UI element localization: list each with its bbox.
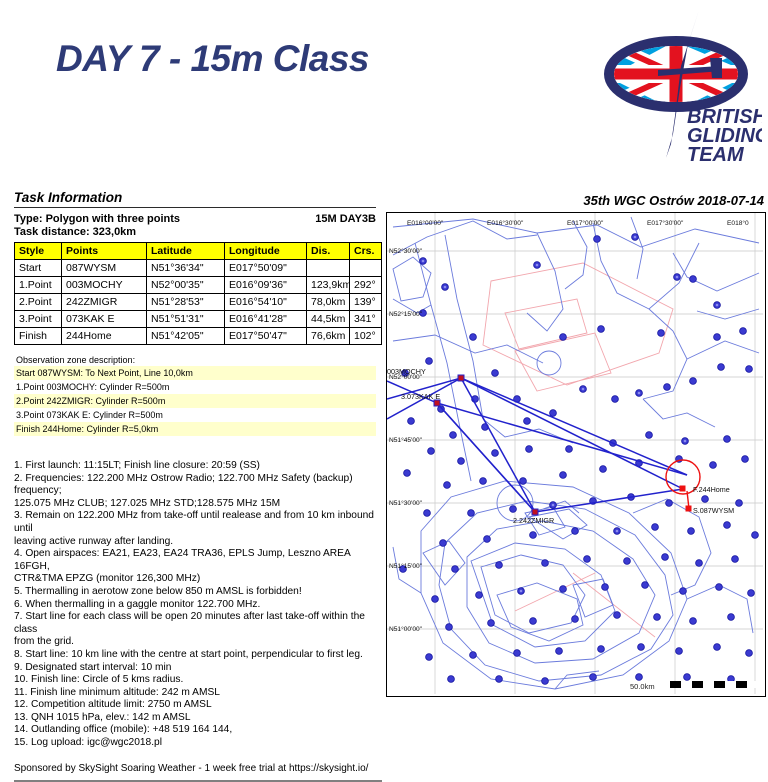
lat-label-3: N51°45'00"	[389, 436, 423, 444]
note-line: 6. When thermalling in a gaggle monitor …	[14, 599, 382, 612]
lon-label-2: E017°00'00"	[567, 219, 604, 227]
note-line: from the grid.	[14, 636, 382, 649]
cell-points: 087WYSM	[62, 260, 147, 277]
table-row: 1.Point 003MOCHY N52°00'35" E016°09'36" …	[15, 277, 382, 294]
cell-points: 242ZMIGR	[62, 294, 147, 311]
cell-points: 244Home	[62, 328, 147, 345]
turnpoint-table: Style Points Latitude Longitude Dis. Crs…	[14, 242, 382, 345]
cell-points: 073KAK E	[62, 311, 147, 328]
note-line: 4. Open airspaces: EA21, EA23, EA24 TRA3…	[14, 548, 382, 573]
table-row: 3.Point 073KAK E N51°51'31" E016°41'28" …	[15, 311, 382, 328]
logo-line-3: TEAM	[687, 144, 745, 166]
cell-style: 2.Point	[15, 294, 62, 311]
lat-label-0: N52°30'00"	[389, 247, 423, 255]
task-information-panel: Task Information Type: Polygon with thre…	[14, 190, 376, 782]
note-line: 10. Finish line: Circle of 5 kms radius.	[14, 674, 382, 687]
observation-zone-title: Observation zone description:	[14, 355, 376, 366]
note-line: 9. Designated start interval: 10 min	[14, 662, 382, 675]
task-notes-list: 1. First launch: 11:15LT; Finish line cl…	[14, 460, 382, 750]
note-line: CTR&TMA EPZG (monitor 126,300 MHz)	[14, 573, 382, 586]
lon-label-4: E018°0	[727, 219, 749, 227]
task-type-line: Type: Polygon with three points 15M DAY3…	[14, 213, 376, 225]
map-label-mochy: 003MOCHY	[387, 367, 426, 376]
sponsor-line: Sponsored by SkySight Soaring Weather - …	[14, 763, 376, 774]
cell-longitude: E017°50'09"	[225, 260, 307, 277]
note-line: leaving active runway after landing.	[14, 536, 382, 549]
col-distance: Dis.	[307, 243, 350, 260]
note-line: 1. First launch: 11:15LT; Finish line cl…	[14, 460, 382, 473]
page-title: DAY 7 - 15m Class	[56, 38, 369, 80]
observation-zone-block: Observation zone description: Start 087W…	[14, 355, 376, 436]
cell-latitude: N52°00'35"	[147, 277, 225, 294]
col-longitude: Longitude	[225, 243, 307, 260]
cell-distance: 76,6km	[307, 328, 350, 345]
task-day-id: 15M DAY3B	[315, 213, 376, 225]
cell-course: 341°	[350, 311, 382, 328]
lat-label-5: N51°15'00"	[389, 562, 423, 570]
task-map[interactable]: E016°00'00" E016°30'00" E017°00'00" E017…	[386, 212, 766, 697]
cell-longitude: E016°09'36"	[225, 277, 307, 294]
page-header: DAY 7 - 15m Class	[0, 0, 768, 186]
scale-label: 50.0km	[630, 682, 655, 691]
cell-style: 3.Point	[15, 311, 62, 328]
note-line: 11. Finish line minimum altitude: 242 m …	[14, 687, 382, 700]
cell-distance: 44,5km	[307, 311, 350, 328]
cell-style: 1.Point	[15, 277, 62, 294]
task-type-text: Type: Polygon with three points	[14, 213, 180, 225]
observation-zone-line: 3.Point 073KAK E: Cylinder R=500m	[14, 408, 376, 422]
latitude-tick-labels: N52°30'00" N52°15'00" N52°00'00" N51°45'…	[389, 247, 423, 633]
cell-course	[350, 260, 382, 277]
observation-zone-line: 1.Point 003MOCHY: Cylinder R=500m	[14, 380, 376, 394]
note-line: 12. Competition altitude limit: 2750 m A…	[14, 699, 382, 712]
map-title: 35th WGC Ostrów 2018-07-14	[380, 193, 764, 208]
observation-zone-line: Start 087WYSM: To Next Point, Line 10,0k…	[14, 366, 376, 380]
lat-label-4: N51°30'00"	[389, 499, 423, 507]
col-points: Points	[62, 243, 147, 260]
airspace-pink	[483, 263, 673, 637]
scale-bar	[670, 681, 758, 688]
col-style: Style	[15, 243, 62, 260]
observation-zone-line: 2.Point 242ZMIGR: Cylinder R=500m	[14, 394, 376, 408]
task-information-heading: Task Information	[14, 190, 376, 208]
lat-label-1: N52°15'00"	[389, 310, 423, 318]
cell-latitude: N51°36'34"	[147, 260, 225, 277]
cell-distance: 123,9km	[307, 277, 350, 294]
table-row: 2.Point 242ZMIGR N51°28'53" E016°54'10" …	[15, 294, 382, 311]
lat-label-6: N51°00'00"	[389, 625, 423, 633]
map-label-home: F.244Home	[693, 485, 730, 494]
note-line: 5. Thermalling in aerotow zone below 850…	[14, 586, 382, 599]
map-label-wysm: S.087WYSM	[693, 506, 734, 515]
table-row: Start 087WYSM N51°36'34" E017°50'09"	[15, 260, 382, 277]
british-gliding-team-logo: BRITISH GLIDING TEAM	[602, 8, 762, 180]
footer-divider	[14, 780, 382, 782]
note-line: 13. QNH 1015 hPa, elev.: 142 m AMSL	[14, 712, 382, 725]
col-latitude: Latitude	[147, 243, 225, 260]
cell-style: Start	[15, 260, 62, 277]
table-header-row: Style Points Latitude Longitude Dis. Crs…	[15, 243, 382, 260]
cell-latitude: N51°42'05"	[147, 328, 225, 345]
note-line: 2. Frequencies: 122.200 MHz Ostrow Radio…	[14, 473, 382, 498]
cell-longitude: E016°54'10"	[225, 294, 307, 311]
lon-label-0: E016°00'00"	[407, 219, 444, 227]
cell-latitude: N51°28'53"	[147, 294, 225, 311]
map-label-kake: 3.073KAK E	[401, 392, 440, 401]
cell-longitude: E017°50'47"	[225, 328, 307, 345]
cell-course: 292°	[350, 277, 382, 294]
table-row: Finish 244Home N51°42'05" E017°50'47" 76…	[15, 328, 382, 345]
observation-zone-line: Finish 244Home: Cylinder R=5,0km	[14, 422, 376, 436]
lon-label-3: E017°30'00"	[647, 219, 684, 227]
note-line: 8. Start line: 10 km line with the centr…	[14, 649, 382, 662]
task-distance-line: Task distance: 323,0km	[14, 226, 376, 238]
cell-course: 139°	[350, 294, 382, 311]
cell-longitude: E016°41'28"	[225, 311, 307, 328]
task-sheet-page: DAY 7 - 15m Class	[0, 0, 768, 768]
col-course: Crs.	[350, 243, 382, 260]
cell-style: Finish	[15, 328, 62, 345]
cell-distance: 78,0km	[307, 294, 350, 311]
note-line: 125.075 MHz CLUB; 127.025 MHz STD;128.57…	[14, 498, 382, 511]
cell-distance	[307, 260, 350, 277]
waypoint-dots	[400, 234, 759, 685]
cell-course: 102°	[350, 328, 382, 345]
note-line: 7. Start line for each class will be ope…	[14, 611, 382, 636]
cell-points: 003MOCHY	[62, 277, 147, 294]
cell-latitude: N51°51'31"	[147, 311, 225, 328]
note-line: 3. Remain on 122.200 MHz from take-off u…	[14, 510, 382, 535]
note-line: 14. Outlanding office (mobile): +48 519 …	[14, 724, 382, 737]
lon-label-1: E016°30'00"	[487, 219, 524, 227]
note-line: 15. Log upload: igc@wgc2018.pl	[14, 737, 382, 750]
map-label-zmigr: 2.242ZMIGR	[513, 516, 554, 525]
